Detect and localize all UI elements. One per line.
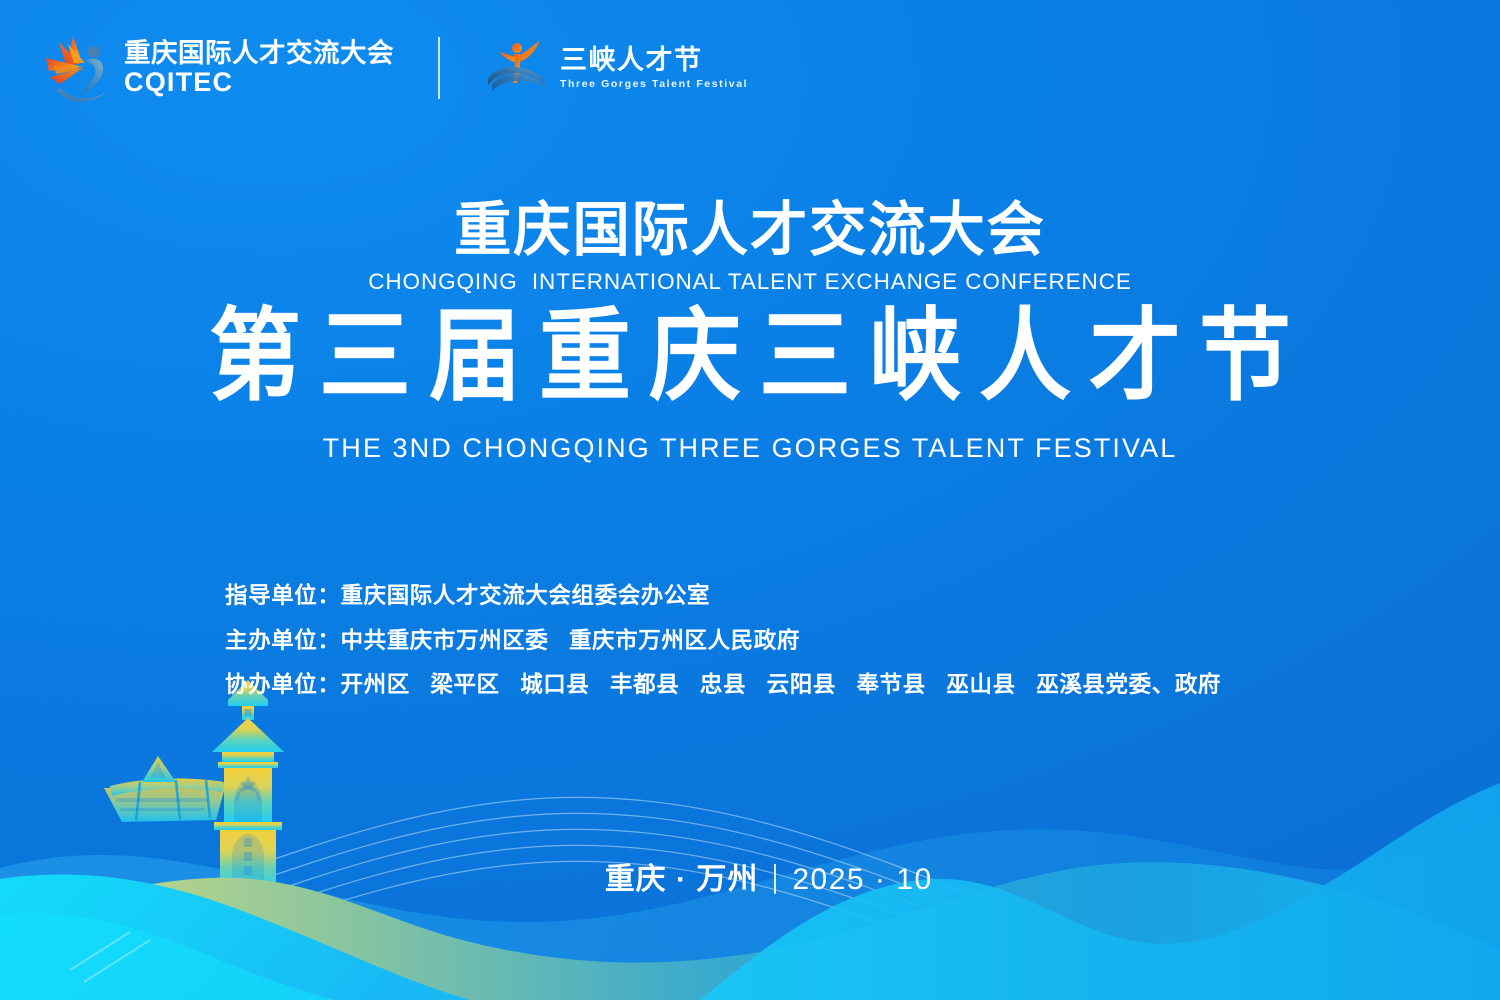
date-separator [774,864,776,894]
three-gorges-logo-cn: 三峡人才节 [560,46,748,76]
boat-landmark-icon [104,756,226,822]
organizers-block: 指导单位：重庆国际人才交流大会组委会办公室 主办单位：中共重庆市万州区委 重庆市… [225,585,1221,697]
cqitec-logo-en: CQITEC [124,68,394,96]
event-location: 重庆 · 万州 [605,863,759,896]
conference-title-cn: 重庆国际人才交流大会 [23,198,1478,263]
cqitec-starburst-figure-logo-icon [40,30,114,106]
poster-canvas: 重庆国际人才交流大会 CQITEC [0,0,1500,1000]
event-date: 2025 · 10 [792,863,932,896]
organizer-line-guidance: 指导单位：重庆国际人才交流大会组委会办公室 [225,585,1221,608]
three-gorges-logo-en: Three Gorges Talent Festival [560,78,748,90]
three-gorges-logo[interactable]: 三峡人才节 Three Gorges Talent Festival [484,39,748,97]
organizer-line-host: 主办单位：中共重庆市万州区委 重庆市万州区人民政府 [225,630,1221,653]
festival-title-cn: 第三届重庆三峡人才节 [0,295,1500,418]
cqitec-logo[interactable]: 重庆国际人才交流大会 CQITEC [40,30,394,106]
logo-bar: 重庆国际人才交流大会 CQITEC [40,28,748,108]
three-gorges-figure-wave-logo-icon [484,39,550,97]
conference-title-en: CHONGQING INTERNATIONAL TALENT EXCHANGE … [0,269,1500,295]
starburst-rays [46,36,85,84]
festival-title-en: THE 3ND CHONGQING THREE GORGES TALENT FE… [0,433,1500,464]
organizer-line-coorganizers: 协办单位：开州区 梁平区 城口县 丰都县 忠县 云阳县 奉节县 巫山县 巫溪县党… [225,674,1221,697]
cyan-streak-lines [70,932,150,982]
cqitec-logo-cn: 重庆国际人才交流大会 [124,40,394,68]
location-date-bar: 重庆 · 万州2025 · 10 [0,820,1500,932]
logo-divider [438,37,440,99]
title-block: 重庆国际人才交流大会 CHONGQING INTERNATIONAL TALEN… [0,198,1500,464]
